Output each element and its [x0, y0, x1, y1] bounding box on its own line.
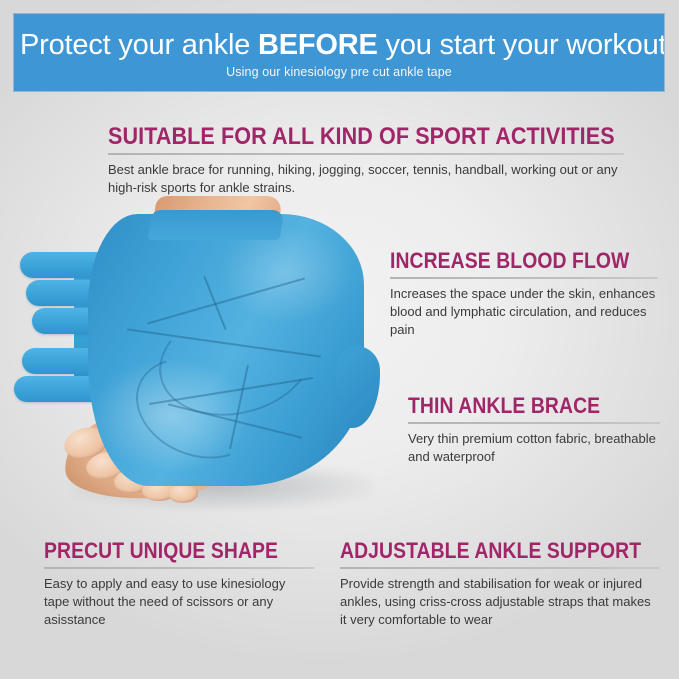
feature-increase-blood-flow: INCREASE BLOOD FLOW Increases the space …	[390, 248, 658, 339]
brace-top-cuff	[148, 210, 285, 240]
feature-divider	[44, 567, 314, 569]
feature-body: Very thin premium cotton fabric, breatha…	[408, 430, 660, 466]
feature-suitable-for-all-sport-activities: SUITABLE FOR ALL KIND OF SPORT ACTIVITIE…	[108, 124, 624, 197]
banner-title-part-2: you start your workout	[378, 29, 665, 61]
feature-body: Increases the space under the skin, enha…	[390, 285, 658, 339]
feature-precut-unique-shape: PRECUT UNIQUE SHAPE Easy to apply and ea…	[44, 538, 314, 629]
feature-thin-ankle-brace: THIN ANKLE BRACE Very thin premium cotto…	[408, 393, 660, 466]
feature-heading: INCREASE BLOOD FLOW	[390, 248, 626, 273]
banner-title-part-1: Protect your ankle	[20, 29, 258, 61]
feature-body: Best ankle brace for running, hiking, jo…	[108, 161, 624, 197]
brace-heel-panel	[336, 346, 380, 428]
banner-title: Protect your ankle BEFORE you start your…	[14, 14, 664, 62]
feature-body: Easy to apply and easy to use kinesiolog…	[44, 575, 314, 629]
product-infographic: Protect your ankle BEFORE you start your…	[0, 0, 679, 679]
feature-heading: SUITABLE FOR ALL KIND OF SPORT ACTIVITIE…	[108, 124, 562, 149]
feature-heading: ADJUSTABLE ANKLE SUPPORT	[340, 538, 622, 563]
feature-heading: PRECUT UNIQUE SHAPE	[44, 538, 282, 563]
feature-divider	[340, 567, 660, 569]
feature-heading: THIN ANKLE BRACE	[408, 393, 630, 418]
feature-divider	[408, 422, 660, 424]
header-banner: Protect your ankle BEFORE you start your…	[13, 13, 665, 92]
toe	[168, 484, 198, 503]
feature-body: Provide strength and stabilisation for w…	[340, 575, 660, 629]
banner-title-emphasis: BEFORE	[258, 29, 378, 61]
feature-adjustable-ankle-support: ADJUSTABLE ANKLE SUPPORT Provide strengt…	[340, 538, 660, 629]
blue-ankle-brace-wrap	[88, 214, 364, 486]
foot-wearing-blue-ankle-brace	[62, 196, 392, 544]
banner-subtitle: Using our kinesiology pre cut ankle tape	[14, 62, 664, 80]
feature-divider	[108, 153, 624, 155]
feature-divider	[390, 277, 658, 279]
